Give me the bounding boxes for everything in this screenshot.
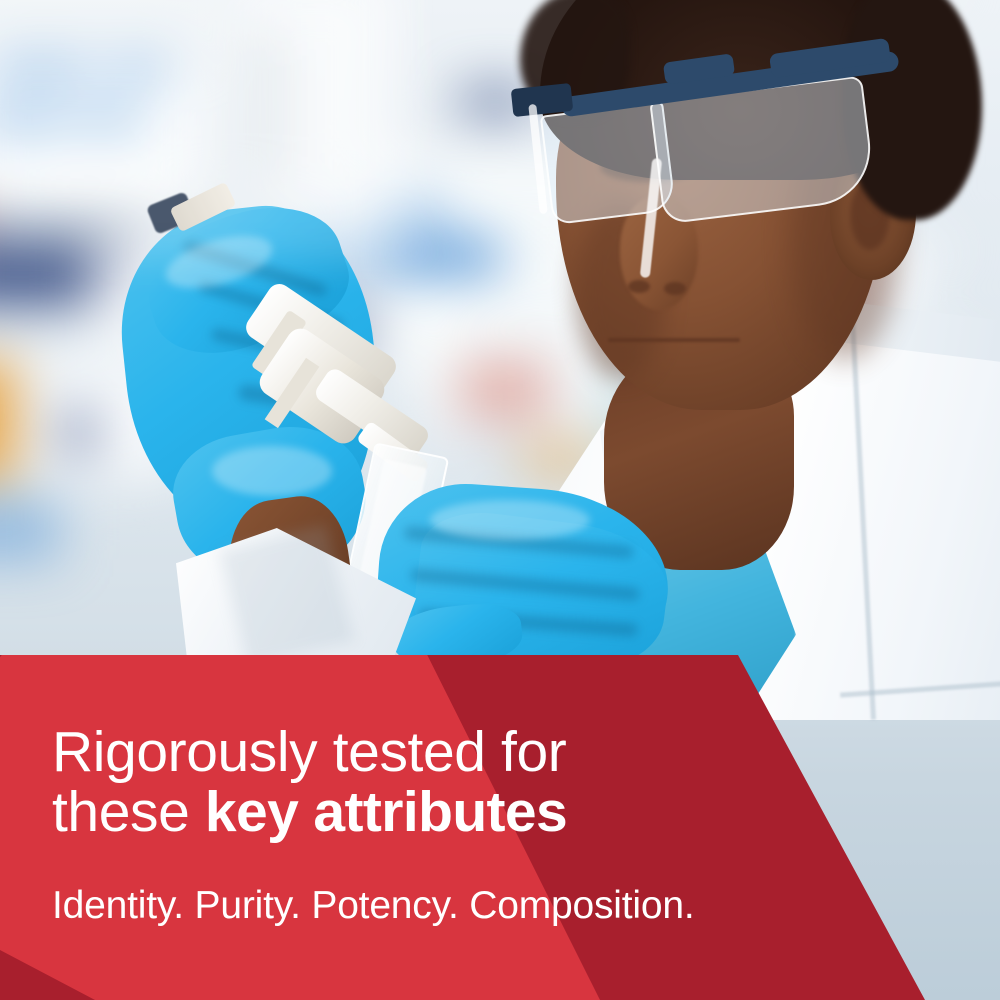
headline-line-2: these key attributes <box>52 782 752 842</box>
subheadline: Identity. Purity. Potency. Composition. <box>52 884 694 928</box>
promotional-banner-image: Rigorously tested for these key attribut… <box>0 0 1000 1000</box>
headline-line-2-light: these <box>52 780 205 844</box>
headline-line-1: Rigorously tested for <box>52 722 752 782</box>
headline-block: Rigorously tested for these key attribut… <box>52 722 752 842</box>
red-banner: Rigorously tested for these key attribut… <box>0 0 1000 1000</box>
headline-line-2-bold: key attributes <box>205 780 567 844</box>
